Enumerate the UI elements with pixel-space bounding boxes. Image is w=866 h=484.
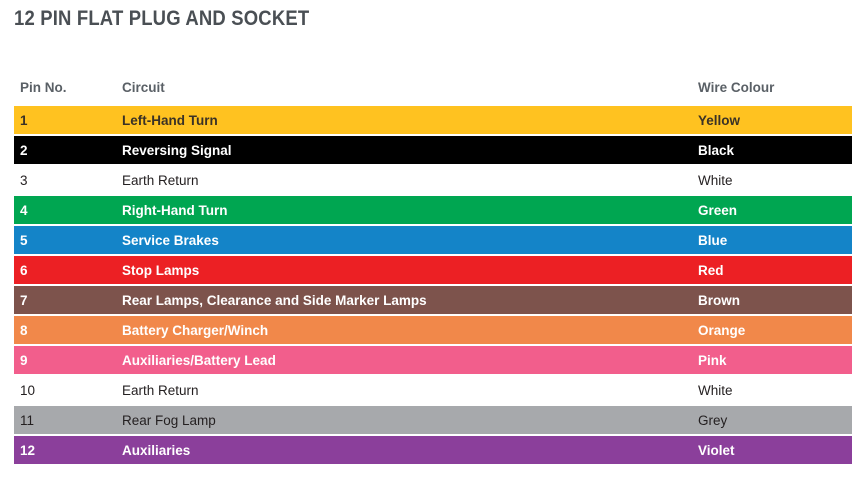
cell-pin-no: 9 xyxy=(14,353,118,368)
cell-wire-colour: White xyxy=(698,383,852,398)
table-row: 10Earth ReturnWhite xyxy=(14,376,852,404)
table-row: 2Reversing SignalBlack xyxy=(14,136,852,164)
pinout-reference-page: 12 PIN FLAT PLUG AND SOCKET Pin No. Circ… xyxy=(0,0,866,484)
table-row: 11Rear Fog LampGrey xyxy=(14,406,852,434)
table-row: 9Auxiliaries/Battery LeadPink xyxy=(14,346,852,374)
cell-wire-colour: Black xyxy=(698,143,852,158)
cell-wire-colour: Blue xyxy=(698,233,852,248)
cell-circuit: Earth Return xyxy=(118,173,698,188)
cell-wire-colour: Green xyxy=(698,203,852,218)
cell-circuit: Stop Lamps xyxy=(118,263,698,278)
cell-pin-no: 7 xyxy=(14,293,118,308)
cell-pin-no: 3 xyxy=(14,173,118,188)
page-title: 12 PIN FLAT PLUG AND SOCKET xyxy=(14,6,309,32)
table-row: 8Battery Charger/WinchOrange xyxy=(14,316,852,344)
cell-circuit: Auxiliaries/Battery Lead xyxy=(118,353,698,368)
cell-wire-colour: Pink xyxy=(698,353,852,368)
column-header-pin-no: Pin No. xyxy=(14,80,118,95)
cell-circuit: Earth Return xyxy=(118,383,698,398)
cell-wire-colour: Orange xyxy=(698,323,852,338)
table-row: 1Left-Hand TurnYellow xyxy=(14,106,852,134)
cell-pin-no: 2 xyxy=(14,143,118,158)
cell-circuit: Rear Fog Lamp xyxy=(118,413,698,428)
cell-circuit: Service Brakes xyxy=(118,233,698,248)
table-row: 12AuxiliariesViolet xyxy=(14,436,852,464)
cell-pin-no: 10 xyxy=(14,383,118,398)
table-row: 7Rear Lamps, Clearance and Side Marker L… xyxy=(14,286,852,314)
cell-pin-no: 5 xyxy=(14,233,118,248)
cell-circuit: Left-Hand Turn xyxy=(118,113,698,128)
table-row: 5Service BrakesBlue xyxy=(14,226,852,254)
cell-pin-no: 6 xyxy=(14,263,118,278)
cell-wire-colour: Brown xyxy=(698,293,852,308)
table-row: 3Earth ReturnWhite xyxy=(14,166,852,194)
column-header-circuit: Circuit xyxy=(118,80,698,95)
table-row: 4Right-Hand TurnGreen xyxy=(14,196,852,224)
cell-pin-no: 8 xyxy=(14,323,118,338)
cell-pin-no: 12 xyxy=(14,443,118,458)
table-body: 1Left-Hand TurnYellow2Reversing SignalBl… xyxy=(14,106,852,464)
cell-wire-colour: Grey xyxy=(698,413,852,428)
cell-wire-colour: Yellow xyxy=(698,113,852,128)
column-header-wire-colour: Wire Colour xyxy=(698,80,852,95)
table-row: 6Stop LampsRed xyxy=(14,256,852,284)
cell-circuit: Right-Hand Turn xyxy=(118,203,698,218)
cell-circuit: Auxiliaries xyxy=(118,443,698,458)
cell-wire-colour: Red xyxy=(698,263,852,278)
cell-pin-no: 1 xyxy=(14,113,118,128)
table-header-row: Pin No. Circuit Wire Colour xyxy=(14,74,852,100)
cell-pin-no: 11 xyxy=(14,413,118,428)
cell-wire-colour: White xyxy=(698,173,852,188)
pinout-table: Pin No. Circuit Wire Colour 1Left-Hand T… xyxy=(14,74,852,466)
cell-pin-no: 4 xyxy=(14,203,118,218)
cell-circuit: Battery Charger/Winch xyxy=(118,323,698,338)
cell-wire-colour: Violet xyxy=(698,443,852,458)
cell-circuit: Rear Lamps, Clearance and Side Marker La… xyxy=(118,293,698,308)
cell-circuit: Reversing Signal xyxy=(118,143,698,158)
